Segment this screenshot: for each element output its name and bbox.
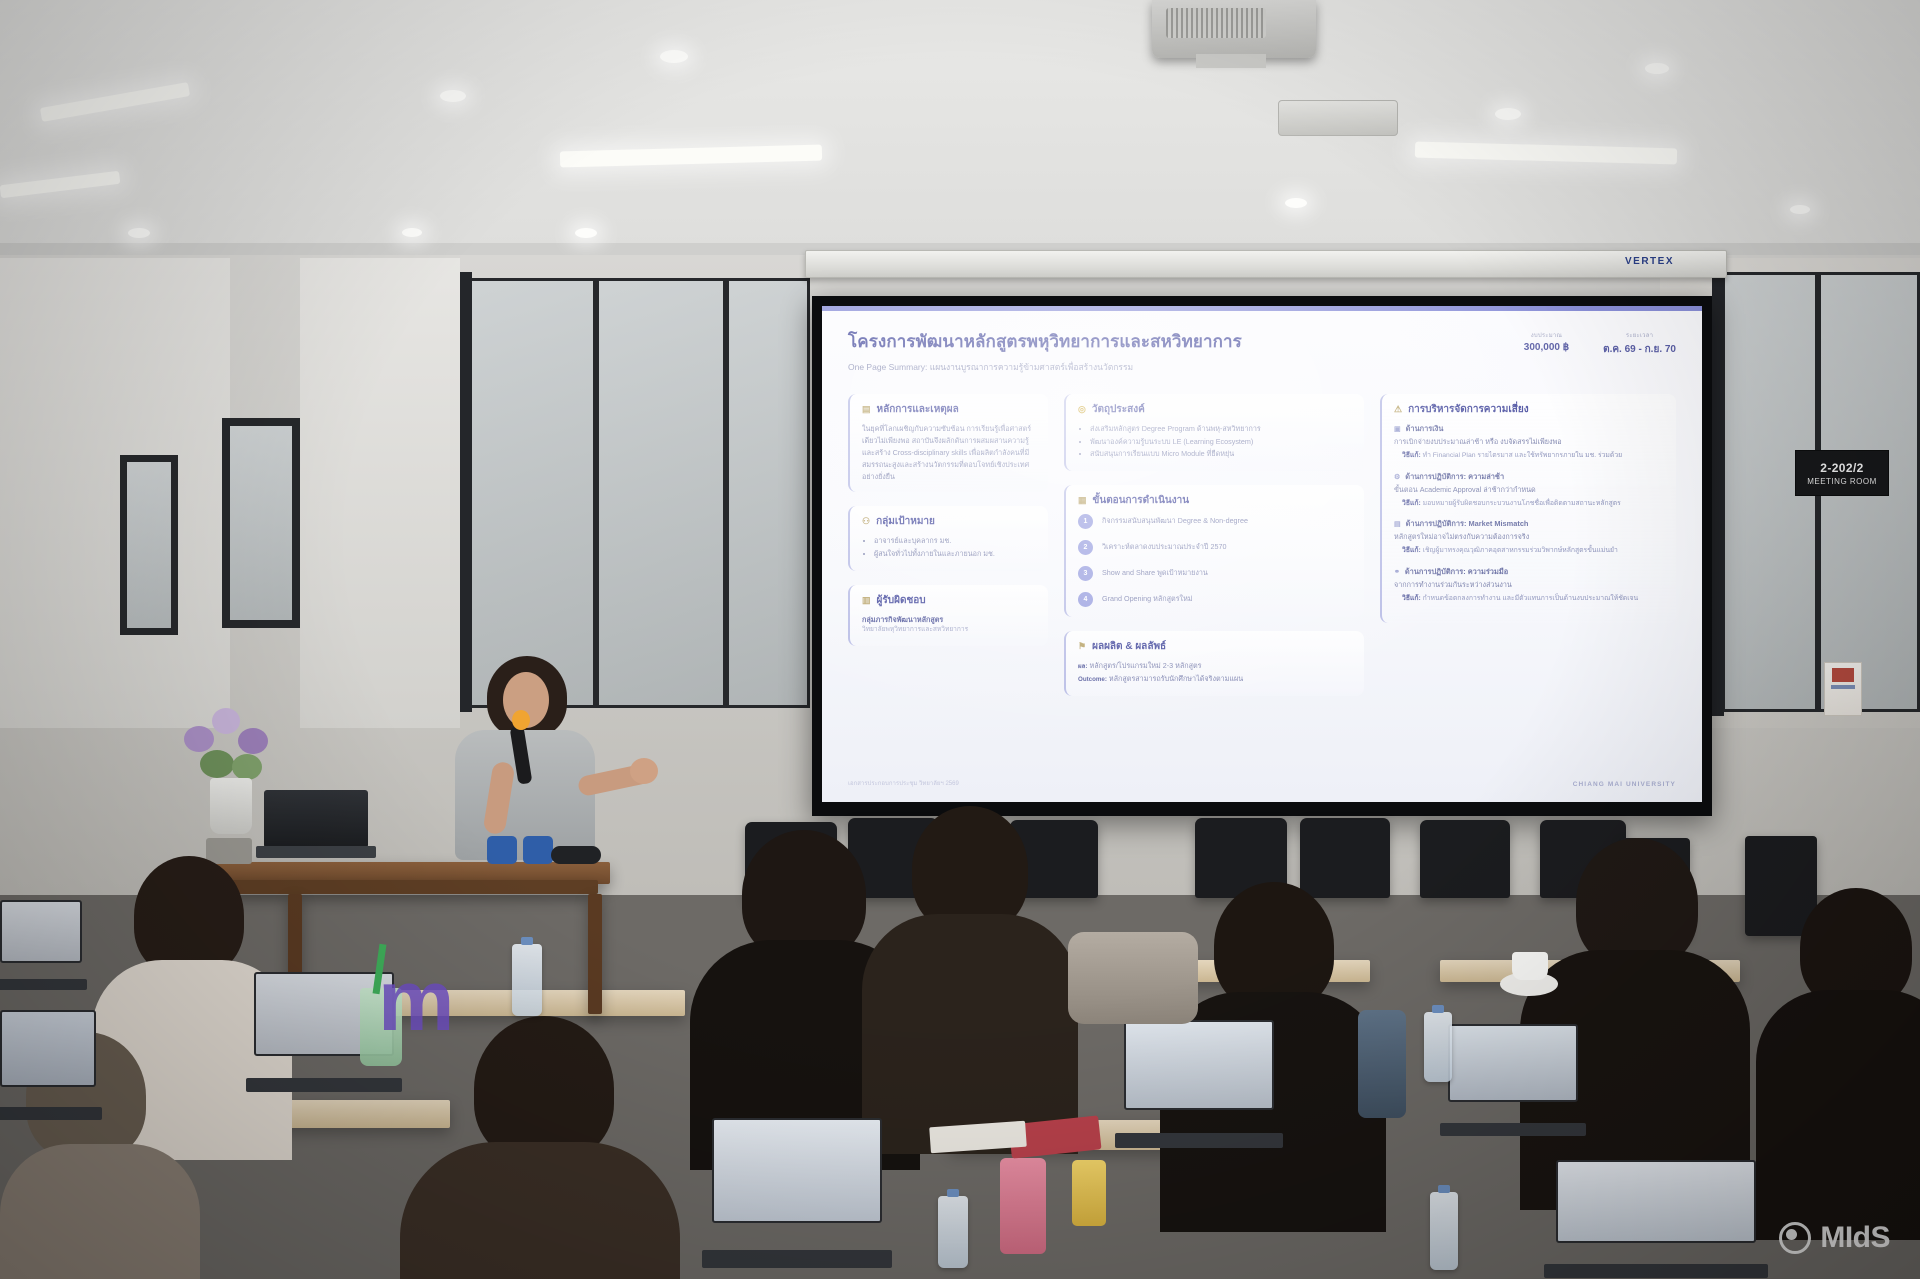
calendar-icon: ▦ bbox=[1078, 495, 1087, 506]
circle-logo-icon bbox=[1779, 1222, 1811, 1254]
meta-duration: ระยะเวลา ต.ค. 69 - ก.ย. 70 bbox=[1603, 330, 1676, 357]
risk-detail: หลักสูตรใหม่อาจไม่ตรงกับความต้องการจริง bbox=[1394, 532, 1666, 543]
slide-column-right: ⚠ การบริหารจัดการความเสี่ยง ▣ ด้านการเงิ… bbox=[1380, 394, 1676, 696]
card-risk: ⚠ การบริหารจัดการความเสี่ยง ▣ ด้านการเงิ… bbox=[1380, 394, 1676, 623]
owner-name: กลุ่มภารกิจพัฒนาหลักสูตร bbox=[862, 614, 1038, 626]
risk-area-row: ▤ ด้านการปฏิบัติการ: Market Mismatch bbox=[1394, 518, 1666, 530]
laptop-base bbox=[0, 979, 87, 990]
card-rationale: ▤ หลักการและเหตุผล ในยุคที่โลกเผชิญกับคว… bbox=[848, 394, 1048, 492]
list-item: พัฒนาองค์ความรู้บนระบบ LE (Learning Ecos… bbox=[1090, 436, 1354, 449]
output-line: ผล: หลักสูตร/โปรแกรมใหม่ 2-3 หลักสูตร bbox=[1078, 660, 1354, 673]
target-icon: ◎ bbox=[1078, 404, 1086, 415]
card-process: ▦ ขั้นตอนการดำเนินงาน 1 กิจกรรมสนับสนุนพ… bbox=[1064, 485, 1364, 617]
risk-detail: การเบิกจ่ายงบประมาณล่าช้า หรือ งบจัดสรรไ… bbox=[1394, 437, 1666, 448]
card-risk-header: ⚠ การบริหารจัดการความเสี่ยง bbox=[1394, 402, 1666, 417]
downlight-7 bbox=[1645, 63, 1669, 74]
presenter-hand bbox=[630, 758, 658, 784]
attendee-silhouette bbox=[1756, 888, 1920, 1228]
link-icon: ⚭ bbox=[1394, 568, 1400, 576]
slide-header-text: โครงการพัฒนาหลักสูตรพหุวิทยาการและสหวิทย… bbox=[848, 328, 1242, 374]
attendee-silhouette bbox=[862, 806, 1078, 1146]
downlight-2 bbox=[660, 50, 688, 63]
downlight-8 bbox=[1790, 205, 1810, 214]
list-item: 2 วิเคราะห์ตลาดงบประมาณประจำปี 2570 bbox=[1078, 540, 1354, 555]
glass-partition-left-3 bbox=[726, 278, 810, 708]
people-icon: ⚇ bbox=[862, 516, 870, 527]
downlight-6 bbox=[575, 228, 597, 238]
downlight-5 bbox=[128, 228, 150, 238]
risk-area-row: ⚙ ด้านการปฏิบัติการ: ความล่าช้า bbox=[1394, 471, 1666, 483]
flower bbox=[212, 708, 240, 734]
risk-mitigation: วิธีแก้: ทำ Financial Plan รายไตรมาส และ… bbox=[1394, 451, 1666, 462]
mic-base bbox=[551, 846, 601, 864]
laptop-base bbox=[702, 1250, 892, 1268]
mids-floor-graphic: m bbox=[378, 952, 618, 1048]
step-number: 3 bbox=[1078, 566, 1093, 581]
output-text: หลักสูตรสามารถรับนักศึกษาได้จริงตามแผน bbox=[1109, 674, 1243, 683]
backpack bbox=[1068, 932, 1198, 1024]
card-process-title: ขั้นตอนการดำเนินงาน bbox=[1093, 493, 1190, 508]
card-owner-title: ผู้รับผิดชอบ bbox=[877, 593, 926, 608]
money-icon: ▣ bbox=[1394, 425, 1401, 433]
mids-watermark-text: MIdS bbox=[1820, 1221, 1890, 1255]
downlight-4 bbox=[1285, 198, 1307, 208]
meta-budget-value: 300,000 ฿ bbox=[1524, 342, 1569, 353]
laptop-base bbox=[1115, 1133, 1283, 1148]
step-text: วิเคราะห์ตลาดงบประมาณประจำปี 2570 bbox=[1102, 542, 1226, 553]
yellow-cup bbox=[1072, 1160, 1106, 1226]
room-code: 2-202/2 bbox=[1820, 461, 1864, 475]
card-process-header: ▦ ขั้นตอนการดำเนินงาน bbox=[1078, 493, 1354, 508]
attendee-laptop[interactable] bbox=[712, 1118, 882, 1268]
card-target-title: กลุ่มเป้าหมาย bbox=[876, 514, 935, 529]
downlight-1 bbox=[440, 90, 466, 102]
coffee-cup bbox=[1512, 952, 1548, 980]
laptop-screen bbox=[1448, 1024, 1578, 1102]
risk-area: ด้านการปฏิบัติการ: ความล่าช้า bbox=[1405, 471, 1504, 483]
risk-mitigation: วิธีแก้: มอบหมายผู้รับผิดชอบกระบวนงานโภช… bbox=[1394, 499, 1666, 510]
lecture-room-photo: 2-202/2 MEETING ROOM VERTEX โครงการพัฒนา… bbox=[0, 0, 1920, 1279]
risk-detail: ขั้นตอน Academic Approval ล่าช้ากว่ากำหน… bbox=[1394, 485, 1666, 496]
meta-duration-value: ต.ค. 69 - ก.ย. 70 bbox=[1603, 342, 1676, 357]
attendee-silhouette bbox=[1520, 838, 1750, 1198]
glass-partition-left-2 bbox=[596, 278, 726, 708]
water-bottle bbox=[938, 1196, 968, 1268]
laptop-base bbox=[1440, 1123, 1586, 1136]
slide-subtitle: One Page Summary: แผนงานบูรณาการความรู้ข… bbox=[848, 360, 1242, 374]
card-objectives-title: วัตถุประสงค์ bbox=[1092, 402, 1145, 417]
mids-watermark: MIdS bbox=[1779, 1221, 1890, 1255]
risk-item: ⚭ ด้านการปฏิบัติการ: ความร่วมมือ จากการท… bbox=[1394, 566, 1666, 605]
slide-meta-group: งบประมาณ 300,000 ฿ ระยะเวลา ต.ค. 69 - ก.… bbox=[1524, 328, 1676, 357]
flag-icon: ⚑ bbox=[1078, 641, 1086, 652]
window-left-1 bbox=[222, 418, 300, 628]
risk-mitigation-text: กำหนดข้อตกลงการทำงาน และมีตัวแทนการเป็นด… bbox=[1423, 595, 1639, 602]
room-label: MEETING ROOM bbox=[1807, 477, 1877, 486]
downlight-9 bbox=[402, 228, 422, 237]
card-objectives-header: ◎ วัตถุประสงค์ bbox=[1078, 402, 1354, 417]
air-vent bbox=[1278, 100, 1398, 136]
flower bbox=[200, 750, 234, 778]
projector-brand-label: VERTEX bbox=[1625, 256, 1674, 267]
step-text: Show and Share พูดเป้าหมายงาน bbox=[1102, 568, 1208, 579]
slide-columns: ▤ หลักการและเหตุผล ในยุคที่โลกเผชิญกับคว… bbox=[848, 394, 1676, 696]
downlight-3 bbox=[1495, 108, 1521, 120]
risk-mitigation-key: วิธีแก้: bbox=[1402, 595, 1421, 602]
building-icon: ▥ bbox=[862, 595, 871, 606]
risk-mitigation-key: วิธีแก้: bbox=[1402, 500, 1421, 507]
risk-area-row: ▣ ด้านการเงิน bbox=[1394, 423, 1666, 435]
output-key: Outcome: bbox=[1078, 676, 1107, 683]
blue-device-2 bbox=[523, 836, 553, 864]
risk-area: ด้านการเงิน bbox=[1406, 423, 1444, 435]
projector-mount bbox=[1196, 54, 1266, 68]
market-icon: ▤ bbox=[1394, 520, 1401, 528]
output-key: ผล: bbox=[1078, 663, 1087, 670]
list-item: 1 กิจกรรมสนับสนุนพัฒนา Degree & Non-degr… bbox=[1078, 514, 1354, 529]
risk-mitigation-text: มอบหมายผู้รับผิดชอบกระบวนงานโภชชื่อเพื่อ… bbox=[1423, 500, 1621, 507]
projection-screen: โครงการพัฒนาหลักสูตรพหุวิทยาการและสหวิทย… bbox=[822, 306, 1702, 802]
process-steps: 1 กิจกรรมสนับสนุนพัฒนา Degree & Non-degr… bbox=[1078, 514, 1354, 607]
flower bbox=[184, 726, 214, 752]
objectives-list: ส่งเสริมหลักสูตร Degree Program ด้านพหุ-… bbox=[1078, 423, 1354, 461]
card-outputs: ⚑ ผลผลิต & ผลลัพธ์ ผล: หลักสูตร/โปรแกรมใ… bbox=[1064, 631, 1364, 696]
output-text: หลักสูตร/โปรแกรมใหม่ 2-3 หลักสูตร bbox=[1089, 661, 1201, 670]
attendee-laptop[interactable] bbox=[1124, 1020, 1274, 1148]
card-risk-title: การบริหารจัดการความเสี่ยง bbox=[1408, 402, 1529, 417]
tumbler bbox=[1358, 1010, 1406, 1118]
laptop-base bbox=[246, 1078, 403, 1092]
list-item: 4 Grand Opening หลักสูตรใหม่ bbox=[1078, 592, 1354, 607]
meta-duration-label: ระยะเวลา bbox=[1603, 330, 1676, 340]
card-rationale-title: หลักการและเหตุผล bbox=[877, 402, 959, 417]
poster-graphic bbox=[1832, 668, 1854, 682]
card-rationale-header: ▤ หลักการและเหตุผล bbox=[862, 402, 1038, 417]
risk-mitigation: วิธีแก้: เชิญผู้มาทรงคุณวุฒิภาคอุตสาหกรร… bbox=[1394, 546, 1666, 557]
laptop-screen bbox=[0, 1010, 96, 1087]
risk-area-row: ⚭ ด้านการปฏิบัติการ: ความร่วมมือ bbox=[1394, 566, 1666, 578]
card-target-header: ⚇ กลุ่มเป้าหมาย bbox=[862, 514, 1038, 529]
slide-column-middle: ◎ วัตถุประสงค์ ส่งเสริมหลักสูตร Degree P… bbox=[1064, 394, 1364, 696]
room-number-sign: 2-202/2 MEETING ROOM bbox=[1795, 450, 1889, 496]
meta-budget: งบประมาณ 300,000 ฿ bbox=[1524, 330, 1569, 357]
wall-column-left bbox=[300, 258, 460, 728]
list-item: 3 Show and Share พูดเป้าหมายงาน bbox=[1078, 566, 1354, 581]
card-outputs-header: ⚑ ผลผลิต & ผลลัพธ์ bbox=[1078, 639, 1354, 654]
microphone-windscreen bbox=[512, 710, 530, 730]
step-number: 4 bbox=[1078, 592, 1093, 607]
laptop-screen bbox=[1124, 1020, 1274, 1110]
mullion-right bbox=[1712, 266, 1724, 716]
laptop-base bbox=[1544, 1264, 1768, 1278]
step-text: กิจกรรมสนับสนุนพัฒนา Degree & Non-degree bbox=[1102, 516, 1248, 527]
ops-icon: ⚙ bbox=[1394, 473, 1400, 481]
attendee-laptop[interactable] bbox=[0, 900, 82, 990]
slide-header: โครงการพัฒนาหลักสูตรพหุวิทยาการและสหวิทย… bbox=[848, 328, 1676, 374]
risk-mitigation-text: ทำ Financial Plan รายไตรมาส และใช้ทรัพยา… bbox=[1423, 452, 1623, 459]
list-item: ผู้สนใจทั่วไปทั้งภายในและภายนอก มช. bbox=[874, 548, 1038, 561]
risk-item: ▤ ด้านการปฏิบัติการ: Market Mismatch หลั… bbox=[1394, 518, 1666, 557]
flower bbox=[232, 754, 262, 780]
poster-bar bbox=[1831, 685, 1855, 689]
slide-brand: CHIANG MAI UNIVERSITY bbox=[1573, 781, 1676, 788]
risk-area: ด้านการปฏิบัติการ: Market Mismatch bbox=[1406, 518, 1529, 530]
laptop-screen bbox=[1556, 1160, 1756, 1243]
pink-tumbler bbox=[1000, 1158, 1046, 1254]
laptop-base bbox=[0, 1107, 102, 1120]
mullion-left bbox=[460, 272, 472, 712]
flower bbox=[238, 728, 268, 754]
wall-poster bbox=[1824, 662, 1862, 716]
warning-icon: ⚠ bbox=[1394, 404, 1402, 415]
card-owner-header: ▥ ผู้รับผิดชอบ bbox=[862, 593, 1038, 608]
attendee-laptop[interactable] bbox=[1556, 1160, 1756, 1278]
attendee-laptop[interactable] bbox=[1448, 1024, 1578, 1136]
vase bbox=[210, 778, 252, 834]
water-bottle bbox=[1430, 1192, 1458, 1270]
owner-unit: วิทยาลัยพหุวิทยาการและสหวิทยาการ bbox=[862, 625, 1038, 636]
document-icon: ▤ bbox=[862, 404, 871, 415]
list-item: อาจารย์และบุคลากร มช. bbox=[874, 535, 1038, 548]
chair bbox=[1420, 820, 1510, 898]
laptop-screen bbox=[712, 1118, 882, 1223]
slide-column-left: ▤ หลักการและเหตุผล ในยุคที่โลกเผชิญกับคว… bbox=[848, 394, 1048, 696]
presenter-laptop[interactable] bbox=[256, 790, 376, 862]
risk-mitigation-key: วิธีแก้: bbox=[1402, 452, 1421, 459]
presentation-slide: โครงการพัฒนาหลักสูตรพหุวิทยาการและสหวิทย… bbox=[822, 306, 1702, 802]
card-objectives: ◎ วัตถุประสงค์ ส่งเสริมหลักสูตร Degree P… bbox=[1064, 394, 1364, 471]
step-number: 1 bbox=[1078, 514, 1093, 529]
water-bottle bbox=[1424, 1012, 1452, 1082]
card-rationale-text: ในยุคที่โลกเผชิญกับความซับซ้อน การเรียนร… bbox=[862, 423, 1038, 482]
left-wall-panel bbox=[0, 258, 230, 728]
list-item: สนับสนุนการเรียนแบบ Micro Module ที่ยืดห… bbox=[1090, 448, 1354, 461]
risk-mitigation-key: วิธีแก้: bbox=[1402, 547, 1421, 554]
glass-partition-left-1 bbox=[466, 278, 596, 708]
blue-device-1 bbox=[487, 836, 517, 864]
attendee-silhouette bbox=[400, 1016, 680, 1279]
target-group-list: อาจารย์และบุคลากร มช. ผู้สนใจทั่วไปทั้งภ… bbox=[862, 535, 1038, 560]
slide-footer-note: เอกสารประกอบการประชุม วิทยาลัยฯ 2569 bbox=[848, 778, 959, 788]
risk-item: ⚙ ด้านการปฏิบัติการ: ความล่าช้า ขั้นตอน … bbox=[1394, 471, 1666, 510]
card-target-group: ⚇ กลุ่มเป้าหมาย อาจารย์และบุคลากร มช. ผู… bbox=[848, 506, 1048, 570]
step-text: Grand Opening หลักสูตรใหม่ bbox=[1102, 594, 1193, 605]
risk-area: ด้านการปฏิบัติการ: ความร่วมมือ bbox=[1405, 566, 1508, 578]
risk-detail: จากการทำงานร่วมกันระหว่างส่วนงาน bbox=[1394, 580, 1666, 591]
projector-vent bbox=[1166, 8, 1266, 38]
slide-title: โครงการพัฒนาหลักสูตรพหุวิทยาการและสหวิทย… bbox=[848, 328, 1242, 355]
list-item: ส่งเสริมหลักสูตร Degree Program ด้านพหุ-… bbox=[1090, 423, 1354, 436]
risk-mitigation: วิธีแก้: กำหนดข้อตกลงการทำงาน และมีตัวแท… bbox=[1394, 594, 1666, 605]
card-owner: ▥ ผู้รับผิดชอบ กลุ่มภารกิจพัฒนาหลักสูตร … bbox=[848, 585, 1048, 647]
window-left-2 bbox=[120, 455, 178, 635]
meta-budget-label: งบประมาณ bbox=[1524, 330, 1569, 340]
laptop-screen bbox=[0, 900, 82, 963]
card-outputs-title: ผลผลิต & ผลลัพธ์ bbox=[1092, 639, 1166, 654]
attendee-laptop[interactable] bbox=[0, 1010, 96, 1120]
ceiling-projector bbox=[1152, 0, 1316, 58]
output-line: Outcome: หลักสูตรสามารถรับนักศึกษาได้จริ… bbox=[1078, 673, 1354, 686]
step-number: 2 bbox=[1078, 540, 1093, 555]
risk-item: ▣ ด้านการเงิน การเบิกจ่ายงบประมาณล่าช้า … bbox=[1394, 423, 1666, 462]
projection-screen-housing bbox=[805, 250, 1727, 278]
risk-mitigation-text: เชิญผู้มาทรงคุณวุฒิภาคอุตสาหกรรมร่วมวิพา… bbox=[1423, 547, 1618, 554]
